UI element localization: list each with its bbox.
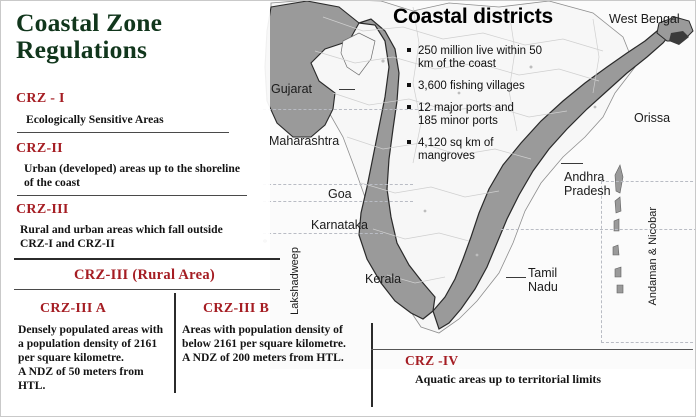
square-bullet-icon [407,83,411,87]
list-item: 12 major ports and 185 minor ports [407,102,582,128]
page-title: Coastal Zone Regulations [16,9,256,63]
crz-3b-heading: CRZ-III B [203,301,269,317]
divider [14,258,280,260]
fact-text: 3,600 fishing villages [418,80,525,92]
crz-3a-body: Densely populated areas with a populatio… [18,323,170,393]
map-facts-list: 250 million live within 50 km of the coa… [407,45,582,172]
crz-1-heading: CRZ - I [16,91,65,107]
infographic-root: Coastal districts 250 million live withi… [0,0,696,417]
latitude-divider [263,233,383,234]
crz-2-body: Urban (developed) areas up to the shorel… [24,162,260,190]
crz-1-body: Ecologically Sensitive Areas [26,113,256,127]
map-label-kerala: Kerala [365,273,401,287]
divider [17,132,229,133]
crz-3b-body: Areas with population density of below 2… [182,323,380,365]
crz-3a-heading: CRZ-III A [40,301,106,317]
leader-line-andhra [561,163,583,164]
crz-3-rural-heading: CRZ-III (Rural Area) [74,267,215,284]
crz-3-heading: CRZ-III [16,202,69,218]
map-label-orissa: Orissa [634,112,670,126]
map-label-karnataka: Karnataka [311,219,368,233]
fact-text: 12 major ports and 185 minor ports [418,102,514,127]
map-label-west-bengal: West Bengal [609,13,680,27]
crz-4-body: Aquatic areas up to territorial limits [415,372,601,387]
divider [17,195,247,196]
list-item: 4,120 sq km of mangroves [407,137,582,163]
leader-line-tamil-nadu [506,277,526,278]
leader-line-gujarat [339,89,355,90]
crz-3-body: Rural and urban areas which fall outside… [20,223,264,251]
crz-4-heading: CRZ -IV [405,353,458,369]
regulations-panel: Coastal Zone Regulations CRZ - I Ecologi… [2,1,270,417]
square-bullet-icon [407,140,411,144]
map-label-andhra-pradesh: Andhra Pradesh [564,171,611,198]
map-label-tamil-nadu: Tamil Nadu [528,267,558,294]
bottom-margin [1,407,696,417]
map-title: Coastal districts [393,5,553,29]
map-label-andaman-nicobar: Andaman & Nicobar [647,207,661,305]
list-item: 250 million live within 50 km of the coa… [407,45,582,71]
crz-2-heading: CRZ-II [16,141,63,157]
column-divider [174,293,176,393]
crz-4-vertical-divider [371,323,373,407]
latitude-divider [263,184,413,185]
map-label-gujarat: Gujarat [271,83,312,97]
fact-text: 4,120 sq km of mangroves [418,137,493,162]
divider [14,289,280,290]
crz-4-horizontal-divider [371,349,693,350]
map-label-goa: Goa [328,188,352,202]
square-bullet-icon [407,105,411,109]
list-item: 3,600 fishing villages [407,80,582,93]
fact-text: 250 million live within 50 km of the coa… [418,45,542,70]
square-bullet-icon [407,48,411,52]
map-label-maharashtra: Maharashtra [269,135,339,149]
map-label-lakshadweep: Lakshadweep [289,247,303,315]
